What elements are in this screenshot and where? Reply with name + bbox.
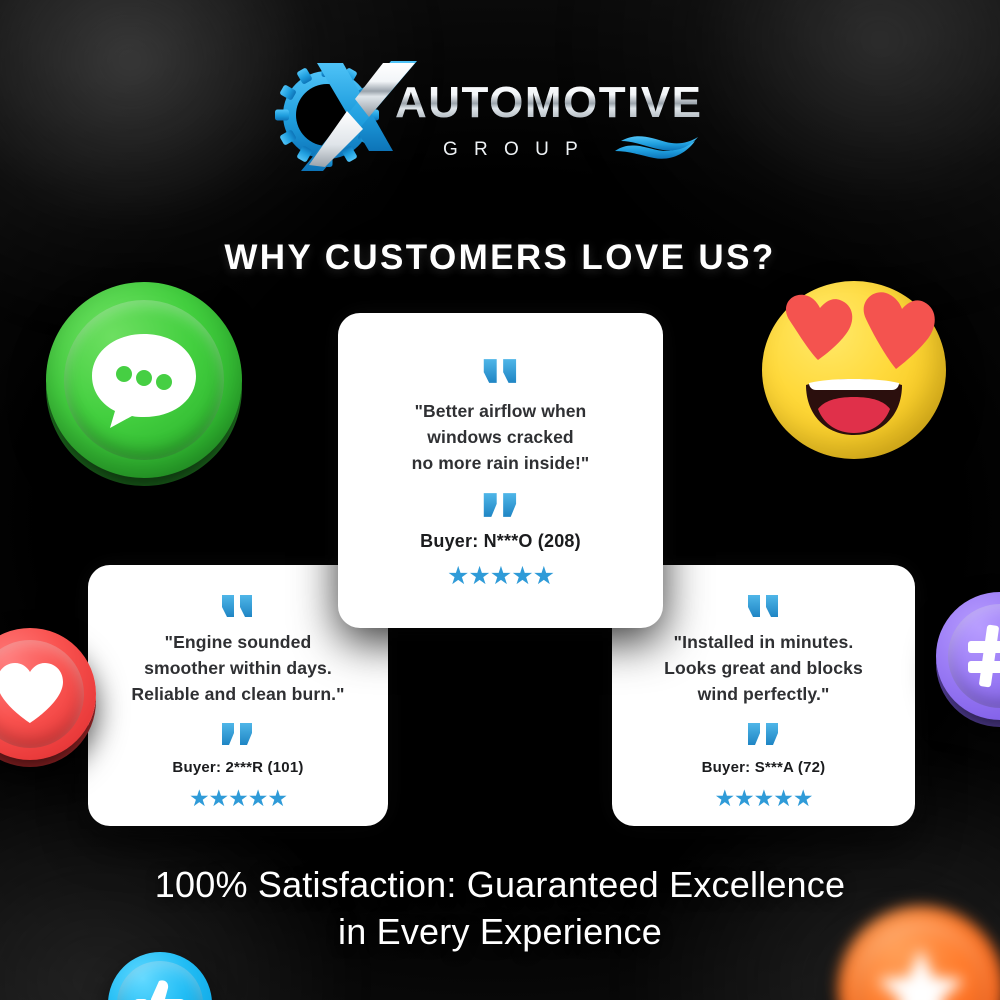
thumbs-up-coin <box>108 952 212 1000</box>
quote-open-icon <box>220 593 256 619</box>
hashtag-icon <box>965 621 1000 691</box>
chat-bubble-icon <box>88 328 200 432</box>
buyer-label: Buyer: S***A (72) <box>702 759 826 776</box>
quote-open-icon <box>746 593 782 619</box>
quote-open-icon <box>481 357 521 385</box>
quote-close-icon-glyph <box>481 491 521 519</box>
quote-open-icon-glyph <box>220 593 256 619</box>
x-automotive-group-logo-icon: AUTOMOTIVE G R O U P <box>265 55 735 175</box>
brand-logo: AUTOMOTIVE G R O U P <box>0 55 1000 175</box>
promo-graphic: AUTOMOTIVE G R O U P WHY CUSTOMERS LOVE … <box>0 0 1000 1000</box>
quote-close-icon-glyph <box>220 721 256 747</box>
quote-close-icon <box>481 491 521 519</box>
hashtag-coin <box>936 592 1000 720</box>
thumbs-up-icon <box>131 975 189 1000</box>
tagline: 100% Satisfaction: Guaranteed Excellence… <box>0 862 1000 956</box>
heart-eyes-emoji-icon <box>762 281 946 459</box>
quote-close-icon <box>220 721 256 747</box>
page-title: WHY CUSTOMERS LOVE US? <box>0 238 1000 278</box>
heart-icon <box>0 660 67 728</box>
heart-coin <box>0 628 96 760</box>
quote-close-icon <box>746 721 782 747</box>
testimonial-card-center[interactable]: "Better airflow when windows cracked no … <box>338 313 663 628</box>
brand-name-sub: G R O U P <box>443 139 583 160</box>
testimonial-quote: "Better airflow when windows cracked no … <box>412 399 590 477</box>
buyer-label: Buyer: N***O (208) <box>420 531 581 552</box>
swoosh-icon <box>615 136 698 158</box>
brand-name-main: AUTOMOTIVE <box>395 78 703 127</box>
quote-open-icon-glyph <box>481 357 521 385</box>
heart-eyes-emoji <box>762 281 946 459</box>
testimonial-quote: "Installed in minutes. Looks great and b… <box>664 629 863 707</box>
quote-open-icon-glyph <box>746 593 782 619</box>
testimonial-quote: "Engine sounded smoother within days. Re… <box>131 629 344 707</box>
star-rating: ★★★★★ <box>714 787 812 810</box>
chat-bubble-coin <box>46 282 242 478</box>
buyer-label: Buyer: 2***R (101) <box>172 759 303 776</box>
star-rating: ★★★★★ <box>189 787 287 810</box>
quote-close-icon-glyph <box>746 721 782 747</box>
star-rating: ★★★★★ <box>447 564 554 589</box>
